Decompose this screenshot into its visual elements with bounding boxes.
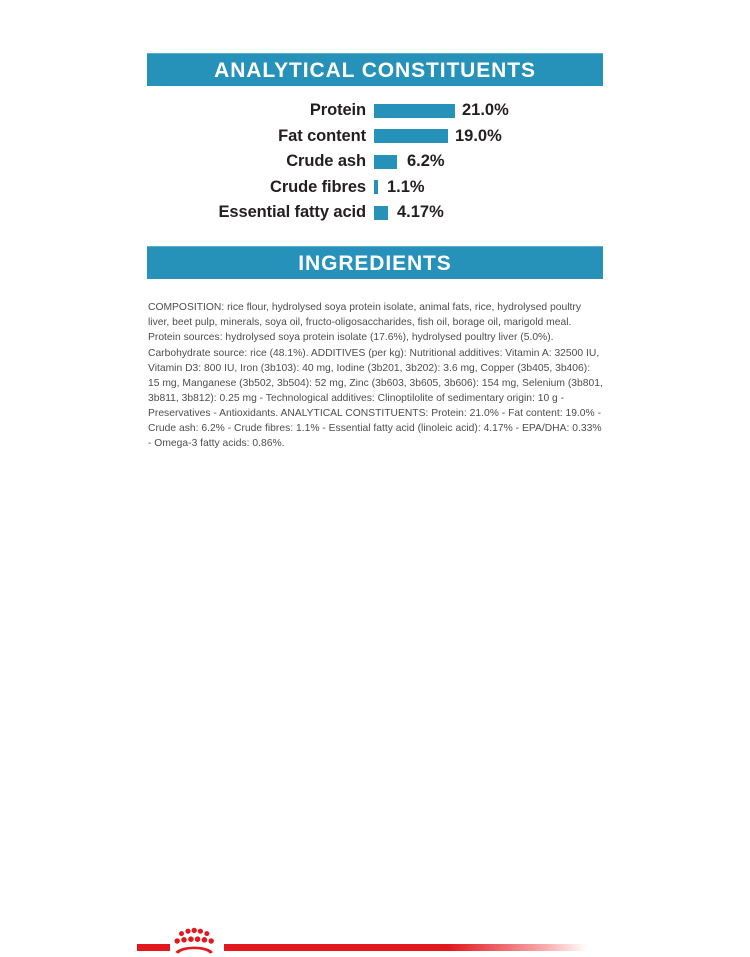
constituent-bar-track: [374, 98, 455, 124]
footer: [0, 455, 750, 525]
constituent-bar: [374, 155, 397, 169]
constituent-label: Fat content: [278, 127, 366, 146]
constituent-row: Crude fibres1.1%: [147, 175, 603, 201]
constituent-bar: [374, 180, 378, 194]
constituent-row: Fat content19.0%: [147, 124, 603, 150]
analytical-constituents-chart: Protein21.0%Fat content19.0%Crude ash6.2…: [147, 98, 603, 226]
constituent-bar: [374, 104, 455, 118]
constituent-label: Essential fatty acid: [219, 203, 366, 222]
constituent-row: Protein21.0%: [147, 98, 603, 124]
constituent-value: 21.0%: [462, 98, 509, 124]
analytical-constituents-title: ANALYTICAL CONSTITUENTS: [214, 60, 536, 81]
ingredients-header: INGREDIENTS: [147, 246, 603, 279]
composition-text: COMPOSITION: rice flour, hydrolysed soya…: [148, 300, 604, 451]
constituent-label: Crude fibres: [270, 178, 366, 197]
constituent-row: Essential fatty acid4.17%: [147, 200, 603, 226]
constituent-bar: [374, 206, 388, 220]
constituent-value: 6.2%: [407, 149, 445, 175]
constituent-value: 4.17%: [397, 200, 444, 226]
constituent-bar-track: [374, 149, 397, 175]
footer-rule-left: [137, 944, 170, 951]
royal-canin-crown-icon: [170, 927, 218, 957]
constituent-bar-track: [374, 200, 388, 226]
constituent-label: Crude ash: [286, 152, 366, 171]
constituent-bar: [374, 129, 448, 143]
constituent-bar-track: [374, 175, 378, 201]
constituent-label: Protein: [310, 101, 366, 120]
footer-rule-right: [224, 944, 587, 951]
constituent-bar-track: [374, 124, 448, 150]
constituent-row: Crude ash6.2%: [147, 149, 603, 175]
constituent-value: 19.0%: [455, 124, 502, 150]
ingredients-title: INGREDIENTS: [298, 253, 451, 274]
product-spec-panel: ANALYTICAL CONSTITUENTS Protein21.0%Fat …: [0, 0, 750, 525]
analytical-constituents-header: ANALYTICAL CONSTITUENTS: [147, 53, 603, 86]
constituent-value: 1.1%: [387, 175, 425, 201]
